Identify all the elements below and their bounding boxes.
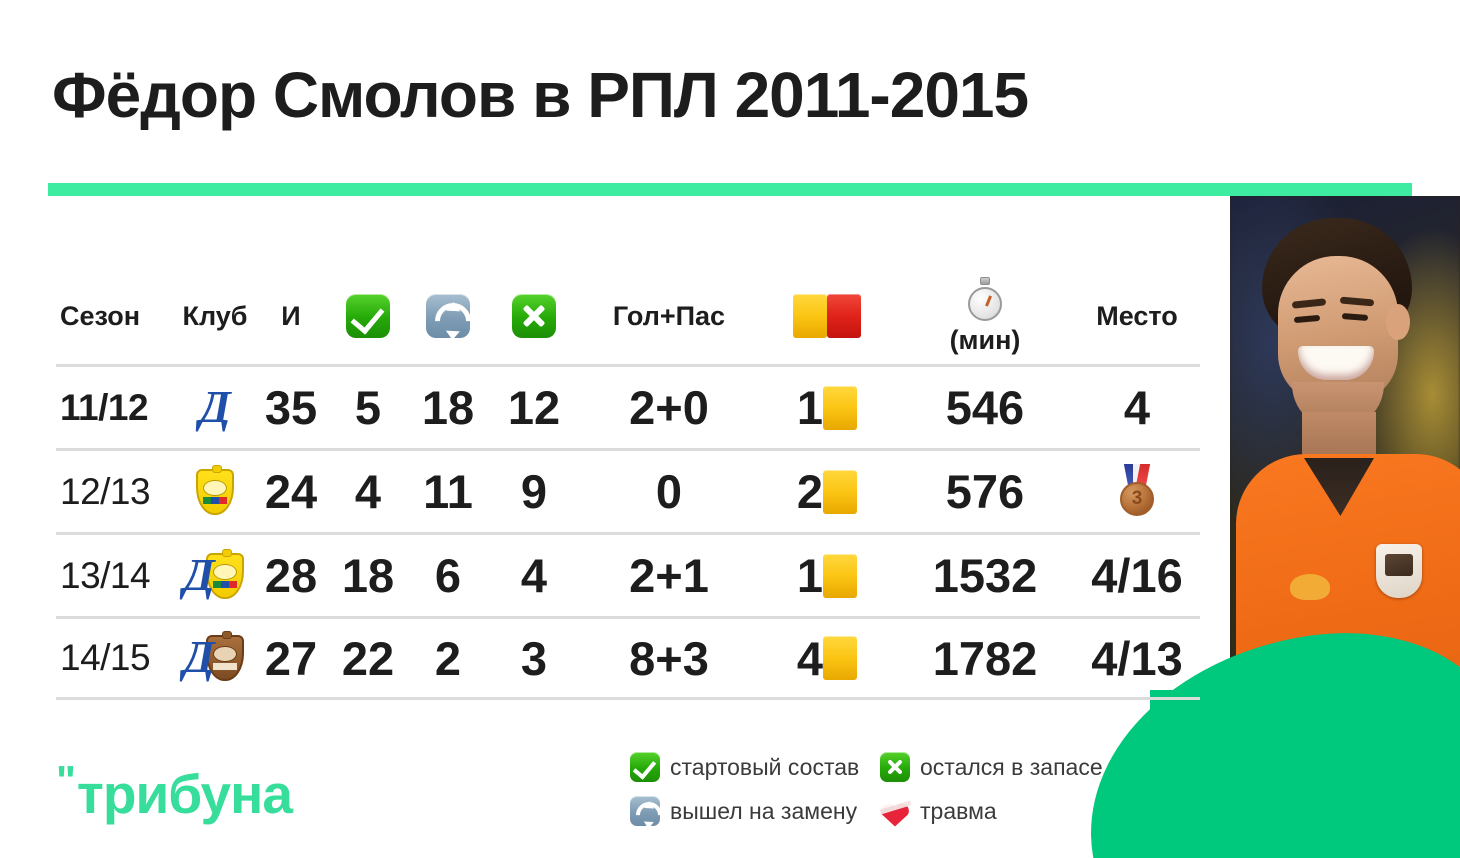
table-row: 14/15Д2722238+3417824/13: [56, 616, 1200, 700]
cell-bench: 12: [508, 384, 560, 431]
bronze-medal-icon: 3: [1115, 464, 1159, 520]
legend-item-injury: травма: [880, 796, 997, 826]
cell-games-wrap: 35: [254, 384, 328, 431]
cell-club: Д: [176, 380, 254, 436]
header-subs: [408, 294, 488, 338]
club-logos: Д: [176, 548, 254, 604]
header-minutes: (мин): [896, 277, 1074, 356]
cell-minutes: 1532: [933, 552, 1038, 599]
cell-starts-wrap: 18: [328, 552, 408, 599]
cell-minutes-wrap: 546: [896, 384, 1074, 431]
cell-subs-wrap: 2: [408, 635, 488, 682]
yellow-card-icon: [823, 386, 857, 430]
dynamo-logo-icon: Д: [176, 633, 222, 683]
cross-mark-button-icon: [512, 294, 556, 338]
logo-text: трибуна: [77, 762, 292, 826]
arrows-counterclockwise-icon: [630, 796, 660, 826]
infographic-page: Фёдор Смолов в РПЛ 2011-2015 ТМК РЕНОВА …: [0, 0, 1460, 858]
page-title: Фёдор Смолов в РПЛ 2011-2015: [52, 58, 1028, 132]
cell-minutes-wrap: 576: [896, 468, 1074, 515]
cell-season-wrap: 14/15: [56, 637, 176, 679]
cell-cards: 1: [797, 384, 823, 431]
cell-goals-assists: 0: [656, 468, 682, 515]
header-club: Клуб: [176, 301, 254, 332]
table-body: 11/12Д35518122+01546412/1324411902576313…: [56, 364, 1200, 700]
cell-cards-wrap: 1: [758, 384, 896, 431]
cell-club: Д: [176, 630, 254, 686]
table-header-row: Сезон Клуб И Гол+Пас: [56, 268, 1200, 364]
table-row: 13/14Д2818642+1115324/16: [56, 532, 1200, 616]
cell-goals-assists-wrap: 2+1: [580, 552, 758, 599]
cell-season: 14/15: [60, 637, 150, 679]
cell-starts: 18: [342, 552, 394, 599]
header-starts: [328, 294, 408, 338]
cell-goals-assists-wrap: 8+3: [580, 635, 758, 682]
cell-minutes: 1782: [933, 635, 1038, 682]
header-bench: [488, 294, 580, 338]
legend-item-bench: остался в запасе: [880, 752, 1103, 782]
cell-minutes: 576: [946, 468, 1024, 515]
cell-games-wrap: 28: [254, 552, 328, 599]
cell-season-wrap: 12/13: [56, 471, 176, 513]
legend-item-start: стартовый состав: [630, 752, 880, 782]
white-check-mark-icon: [346, 294, 390, 338]
cell-season: 11/12: [60, 387, 148, 429]
cell-games-wrap: 24: [254, 468, 328, 515]
cell-place-wrap: 3: [1074, 464, 1200, 520]
cell-place: 4: [1124, 384, 1150, 431]
cell-bench-wrap: 4: [488, 552, 580, 599]
tribuna-logo[interactable]: " трибуна: [56, 762, 292, 826]
header-place: Место: [1074, 301, 1200, 332]
cell-bench-wrap: 3: [488, 635, 580, 682]
table-row: 11/12Д35518122+015464: [56, 364, 1200, 448]
yellow-red-card-icon: [793, 294, 861, 338]
header-goals-assists: Гол+Пас: [580, 301, 758, 332]
cell-bench-wrap: 9: [488, 468, 580, 515]
stopwatch-icon: [965, 277, 1005, 323]
header-games: И: [254, 301, 328, 332]
header-cards: [758, 294, 896, 338]
accent-bar: [48, 183, 1412, 196]
cell-place: 4/13: [1091, 635, 1182, 682]
stats-table: Сезон Клуб И Гол+Пас: [56, 268, 1200, 700]
cell-subs: 11: [423, 468, 473, 515]
cell-cards-wrap: 4: [758, 635, 896, 682]
legend-row: вышел на замену травма: [630, 796, 1170, 826]
cell-season: 12/13: [60, 471, 150, 513]
cell-goals-assists: 8+3: [629, 635, 709, 682]
cell-cards-wrap: 2: [758, 468, 896, 515]
cell-season-wrap: 11/12: [56, 387, 176, 429]
cell-season: 13/14: [60, 555, 150, 597]
cell-starts: 22: [342, 635, 394, 682]
cell-minutes-wrap: 1782: [896, 635, 1074, 682]
green-blob-fill: [1150, 690, 1460, 858]
cell-games: 27: [265, 635, 317, 682]
cell-games: 28: [265, 552, 317, 599]
yellow-card-icon: [823, 554, 857, 598]
yellow-card-icon: [823, 470, 857, 514]
cell-bench: 4: [521, 552, 547, 599]
legend: стартовый состав остался в запасе вышел …: [630, 752, 1170, 840]
legend-item-sub: вышел на замену: [630, 796, 880, 826]
cell-subs-wrap: 11: [408, 468, 488, 515]
club-logos: Д: [176, 630, 254, 686]
photo-ear: [1386, 304, 1410, 340]
cell-subs: 18: [422, 384, 474, 431]
cell-cards: 4: [797, 635, 823, 682]
mending-heart-icon: [880, 798, 910, 825]
table-row: 12/13244119025763: [56, 448, 1200, 532]
cell-place-wrap: 4: [1074, 384, 1200, 431]
cross-mark-button-icon: [880, 752, 910, 782]
cell-subs-wrap: 18: [408, 384, 488, 431]
cell-cards: 2: [797, 468, 823, 515]
cell-starts-wrap: 4: [328, 468, 408, 515]
cell-subs: 2: [435, 635, 461, 682]
arrows-counterclockwise-icon: [426, 294, 470, 338]
anzhi-logo-icon: [196, 469, 234, 515]
cell-bench: 9: [521, 468, 547, 515]
cell-place-wrap: 4/13: [1074, 635, 1200, 682]
cell-bench: 3: [521, 635, 547, 682]
cell-goals-assists: 2+0: [629, 384, 709, 431]
cell-bench-wrap: 12: [488, 384, 580, 431]
cell-minutes: 546: [946, 384, 1024, 431]
cell-subs: 6: [435, 552, 461, 599]
white-check-mark-icon: [630, 752, 660, 782]
cell-starts-wrap: 22: [328, 635, 408, 682]
cell-starts-wrap: 5: [328, 384, 408, 431]
cell-cards: 1: [797, 552, 823, 599]
cell-cards-wrap: 1: [758, 552, 896, 599]
cell-games: 24: [265, 468, 317, 515]
cell-goals-assists-wrap: 2+0: [580, 384, 758, 431]
dynamo-logo-icon: Д: [176, 551, 222, 601]
club-logos: Д: [176, 380, 254, 436]
cell-season-wrap: 13/14: [56, 555, 176, 597]
cell-goals-assists: 2+1: [629, 552, 709, 599]
cell-place-wrap: 4/16: [1074, 552, 1200, 599]
cell-minutes-wrap: 1532: [896, 552, 1074, 599]
cell-place: 4/16: [1091, 552, 1182, 599]
legend-row: стартовый состав остался в запасе: [630, 752, 1170, 782]
photo-club-crest: [1376, 544, 1422, 598]
dynamo-logo-icon: Д: [192, 383, 238, 433]
cell-club: [176, 464, 254, 520]
yellow-card-icon: [823, 636, 857, 680]
cell-starts: 5: [355, 384, 381, 431]
club-logos: [176, 464, 254, 520]
photo-kit-brand: [1290, 574, 1330, 600]
logo-quote: ": [56, 762, 75, 800]
cell-club: Д: [176, 548, 254, 604]
cell-starts: 4: [355, 468, 381, 515]
cell-games-wrap: 27: [254, 635, 328, 682]
cell-subs-wrap: 6: [408, 552, 488, 599]
cell-games: 35: [265, 384, 317, 431]
header-season: Сезон: [56, 301, 176, 332]
cell-goals-assists-wrap: 0: [580, 468, 758, 515]
